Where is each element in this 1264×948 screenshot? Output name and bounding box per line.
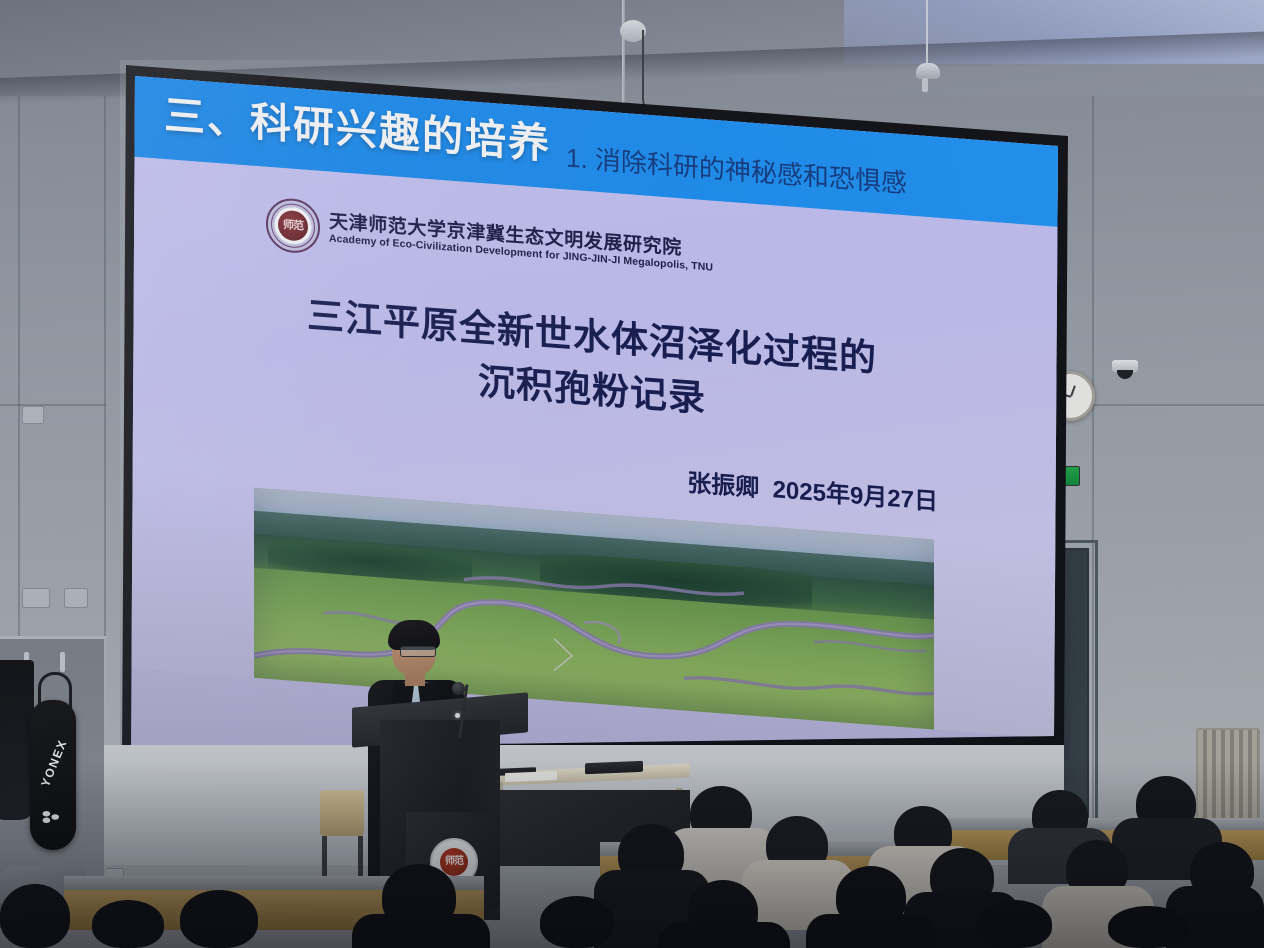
audience-head: [976, 900, 1052, 948]
wall-socket: [22, 588, 50, 608]
audience-body: [806, 914, 936, 948]
audience-head: [1108, 906, 1188, 948]
spotlight-stem: [926, 0, 928, 64]
wall-socket: [22, 406, 44, 424]
presentation-screen[interactable]: 三、科研兴趣的培养 1. 消除科研的神秘感和恐惧感 师范 天津师范大学京津冀生态…: [120, 60, 1070, 760]
podium-indicator-light: [455, 713, 460, 718]
screen-surface: 三、科研兴趣的培养 1. 消除科研的神秘感和恐惧感 师范 天津师范大学京津冀生态…: [120, 60, 1070, 760]
university-seal-icon: 师范: [266, 197, 320, 255]
slide-byline: 张振卿 2025年9月27日: [687, 463, 938, 517]
wall-hook-icon: [60, 652, 65, 672]
yonex-logo-icon: [42, 810, 64, 824]
wall-seam: [18, 96, 20, 656]
audience-head: [92, 900, 164, 948]
slide-warp: 三、科研兴趣的培养 1. 消除科研的神秘感和恐惧感 师范 天津师范大学京津冀生态…: [126, 68, 1058, 760]
seal-ring: [271, 202, 315, 249]
hanging-coat: [0, 660, 34, 820]
audience-body: [658, 922, 790, 948]
presenter-name: 张振卿: [687, 470, 759, 502]
microphone-icon: [452, 682, 465, 695]
racket-bag-brand-label: YONEX: [33, 723, 76, 802]
wall-seam: [0, 404, 106, 406]
slide-title-block: 三江平原全新世水体沼泽化过程的 沉积孢粉记录: [126, 276, 1058, 452]
presentation-date: 2025年9月27日: [773, 476, 938, 516]
audience-head: [540, 896, 614, 948]
organization-text: 天津师范大学京津冀生态文明发展研究院 Academy of Eco-Civili…: [329, 213, 713, 274]
wall-seam: [1092, 404, 1264, 406]
organization-block: 师范 天津师范大学京津冀生态文明发展研究院 Academy of Eco-Civ…: [266, 197, 713, 285]
glasses-icon: [400, 646, 436, 657]
audience-body: [352, 914, 490, 948]
slide: 三、科研兴趣的培养 1. 消除科研的神秘感和恐惧感 师范 天津师范大学京津冀生态…: [126, 68, 1058, 739]
wall-socket: [64, 588, 88, 608]
racket-bag: YONEX: [30, 700, 76, 850]
podium-emblem-characters: 师范: [440, 848, 468, 876]
audience-head: [0, 884, 70, 948]
lecture-hall-photo: YONEX 三、科研兴趣的培养 1. 消除科研的神秘感和恐惧感 师范: [0, 0, 1264, 948]
audience-head: [180, 890, 258, 948]
